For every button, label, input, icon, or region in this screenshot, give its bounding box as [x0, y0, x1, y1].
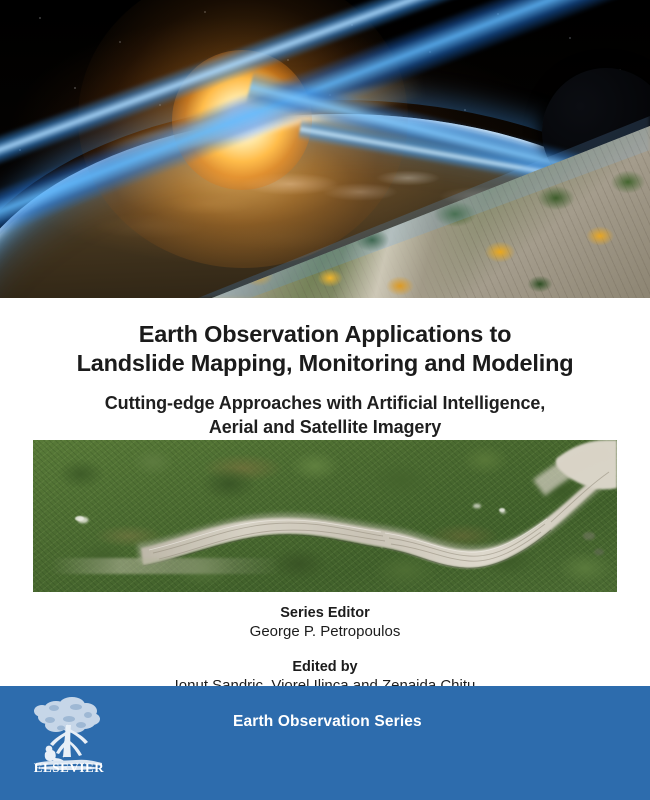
- cover-photo: [33, 440, 617, 592]
- series-name: Earth Observation Series: [233, 713, 422, 731]
- bright-patch: [75, 516, 84, 521]
- credits-block: Series Editor George P. Petropoulos Edit…: [0, 604, 650, 695]
- edited-by-label: Edited by: [0, 658, 650, 676]
- series-editor-name: George P. Petropoulos: [0, 622, 650, 641]
- series-editor-label: Series Editor: [0, 604, 650, 622]
- elsevier-wordmark: ELSEVIER: [32, 760, 106, 776]
- book-subtitle-line-1: Cutting-edge Approaches with Artificial …: [0, 391, 650, 415]
- book-cover: Earth Observation Applications to Landsl…: [0, 0, 650, 800]
- hero-space-image: [0, 0, 650, 298]
- book-subtitle-line-2: Aerial and Satellite Imagery: [0, 415, 650, 439]
- title-block: Earth Observation Applications to Landsl…: [0, 298, 650, 439]
- book-title-line-1: Earth Observation Applications to: [0, 320, 650, 349]
- publisher-footer: ELSEVIER Earth Observation Series: [0, 686, 650, 800]
- bright-patch: [499, 508, 505, 512]
- book-title-line-2: Landslide Mapping, Monitoring and Modeli…: [0, 349, 650, 378]
- forest-track: [51, 558, 281, 574]
